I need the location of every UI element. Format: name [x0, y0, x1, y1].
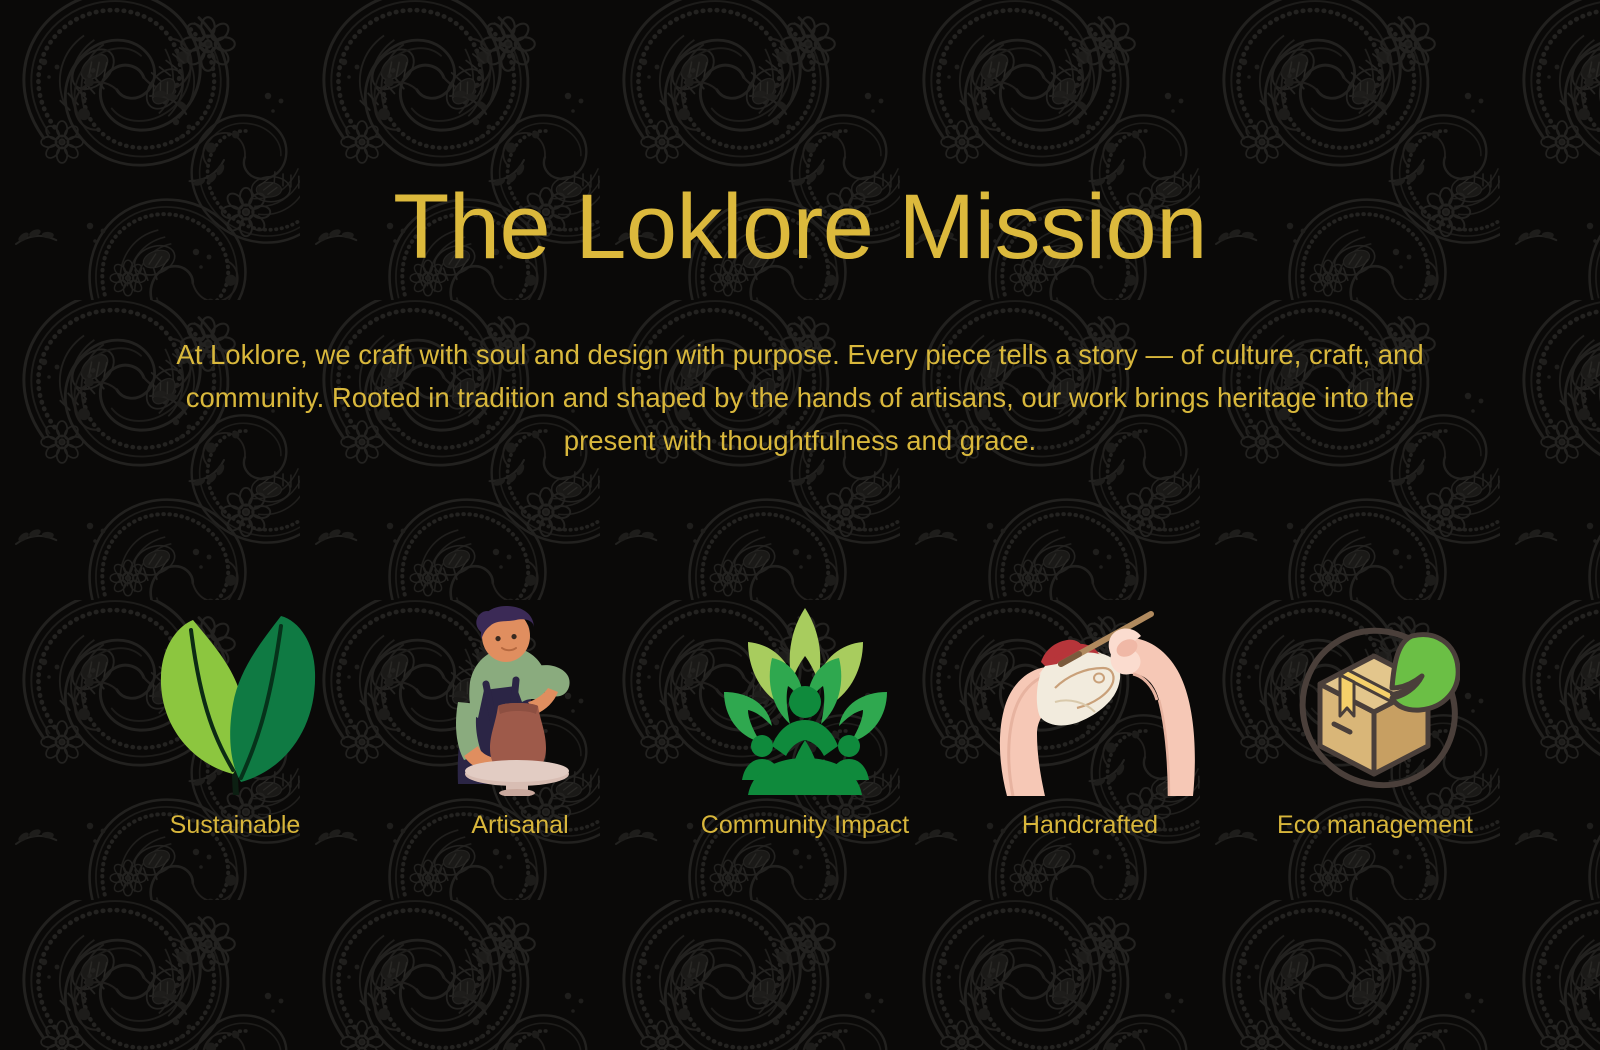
feature-label-handcrafted: Handcrafted: [1022, 810, 1158, 840]
potter-at-wheel-icon: [440, 606, 600, 796]
mission-page: The Loklore Mission At Loklore, we craft…: [0, 0, 1600, 1050]
feature-item-community-impact[interactable]: Community Impact: [680, 606, 930, 840]
feature-label-sustainable: Sustainable: [170, 810, 301, 840]
feature-label-community-impact: Community Impact: [701, 810, 909, 840]
feature-label-eco-management: Eco management: [1277, 810, 1473, 840]
mission-paragraph: At Loklore, we craft with soul and desig…: [150, 333, 1450, 462]
feature-item-sustainable[interactable]: Sustainable: [110, 614, 360, 840]
feature-item-handcrafted[interactable]: Handcrafted: [965, 606, 1215, 840]
feature-item-artisanal[interactable]: Artisanal: [395, 606, 645, 840]
feature-label-artisanal: Artisanal: [471, 810, 568, 840]
feature-item-eco-management[interactable]: Eco management: [1250, 614, 1500, 840]
community-people-leaves-icon: [718, 606, 893, 796]
feature-list: Sustainable: [110, 600, 1500, 840]
two-leaves-icon: [145, 614, 325, 796]
hands-painting-pottery-icon: [983, 606, 1198, 796]
eco-package-leaf-icon: [1290, 614, 1460, 796]
page-title: The Loklore Mission: [0, 181, 1600, 273]
